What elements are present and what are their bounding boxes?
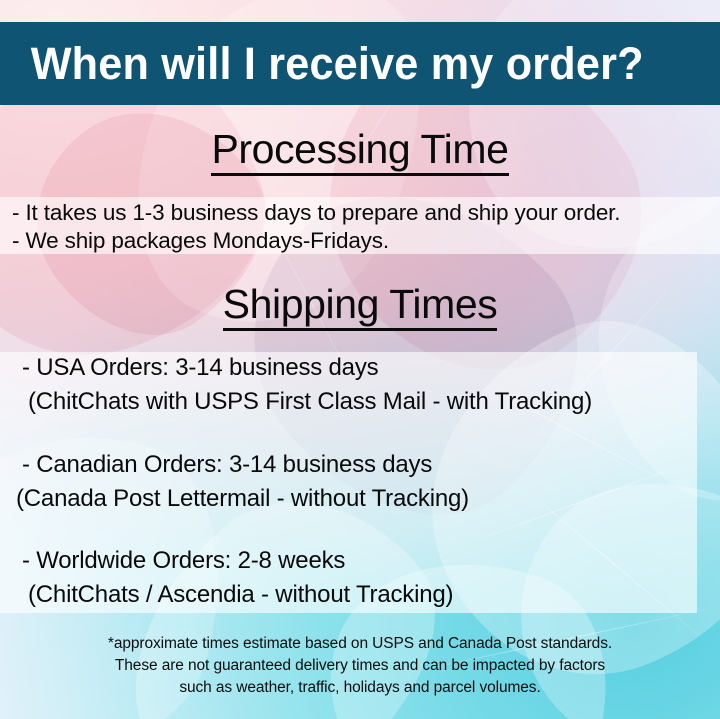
processing-time-line-1: - It takes us 1-3 business days to prepa…: [12, 199, 620, 226]
footnote-line-2: These are not guaranteed delivery times …: [0, 655, 720, 677]
footnote-line-1: *approximate times estimate based on USP…: [0, 633, 720, 655]
shipping-entry-canada-title: - Canadian Orders: 3-14 business days: [22, 450, 432, 480]
page-title: When will I receive my order?: [0, 38, 644, 90]
shipping-entry-worldwide-detail: (ChitChats / Ascendia - without Tracking…: [28, 580, 453, 610]
infographic-card: When will I receive my order? Processing…: [0, 0, 720, 719]
processing-time-line-2: - We ship packages Mondays-Fridays.: [12, 227, 389, 254]
shipping-entry-canada-detail: (Canada Post Lettermail - without Tracki…: [16, 484, 469, 514]
shipping-times-heading: Shipping Times: [0, 284, 720, 331]
header-banner: When will I receive my order?: [0, 22, 720, 105]
processing-time-heading: Processing Time: [0, 129, 720, 176]
shipping-times-heading-text: Shipping Times: [223, 284, 498, 331]
shipping-entry-worldwide-title: - Worldwide Orders: 2-8 weeks: [22, 546, 345, 576]
footnote-line-3: such as weather, traffic, holidays and p…: [0, 677, 720, 699]
processing-time-heading-text: Processing Time: [211, 129, 508, 176]
footnote-disclaimer: *approximate times estimate based on USP…: [0, 633, 720, 699]
shipping-entry-usa-title: - USA Orders: 3-14 business days: [22, 353, 378, 383]
shipping-entry-usa-detail: (ChitChats with USPS First Class Mail - …: [28, 387, 592, 417]
content-area: Processing Time - It takes us 1-3 busine…: [0, 105, 720, 719]
